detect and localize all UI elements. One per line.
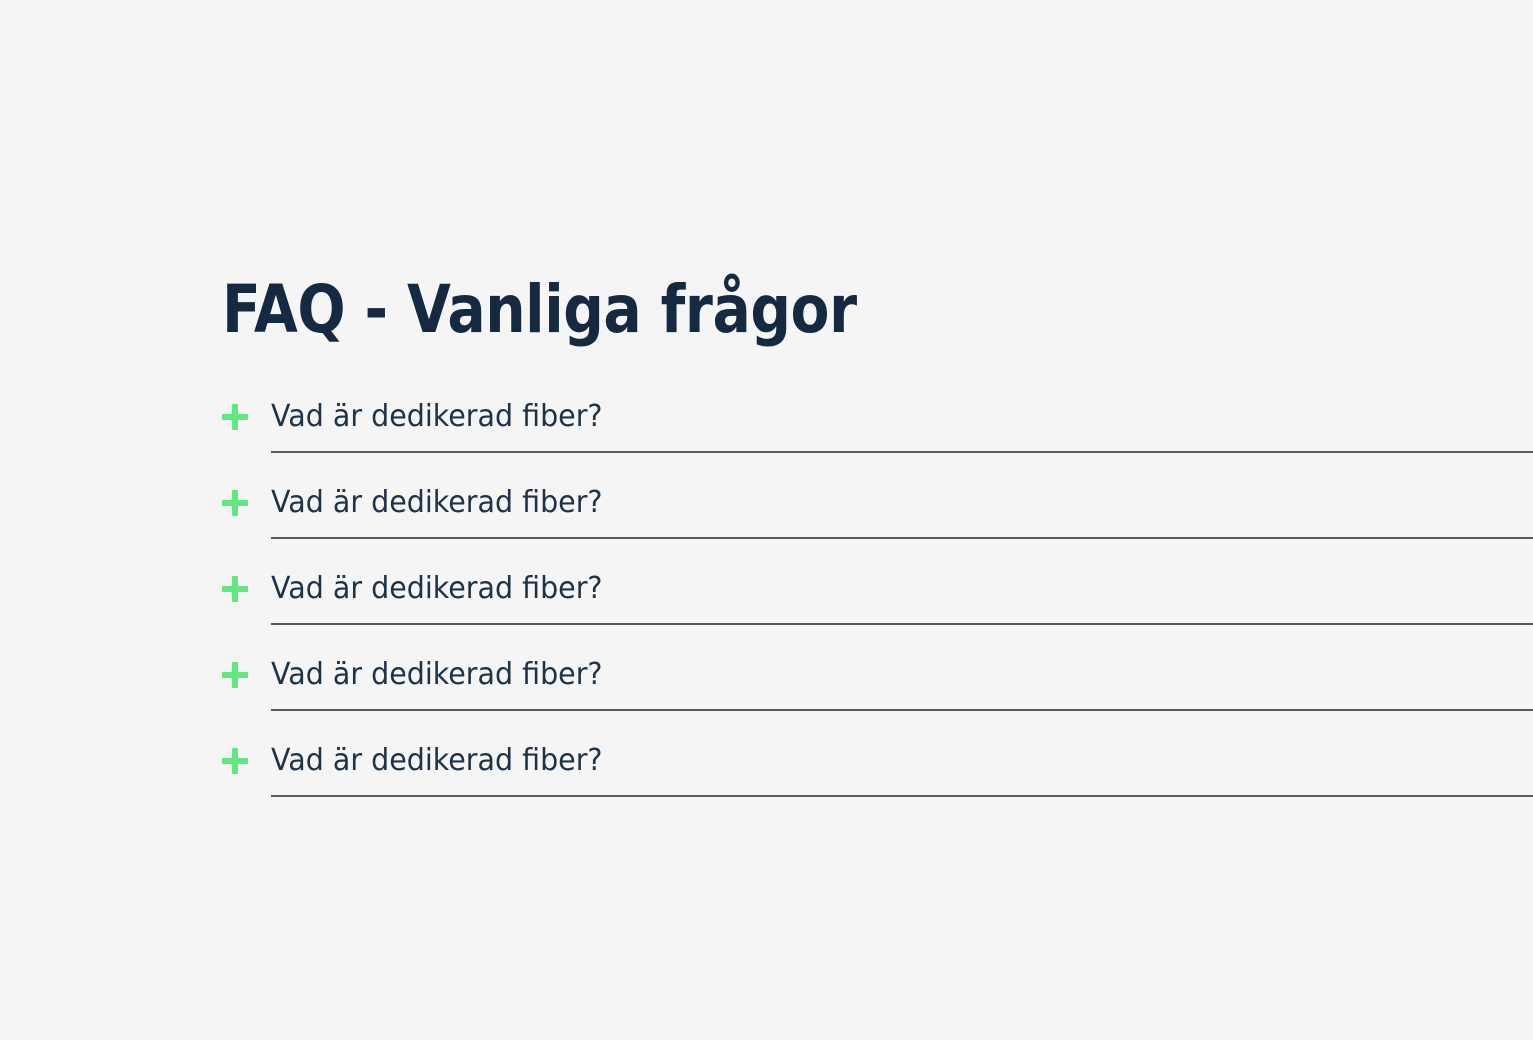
faq-question-label: Vad är dedikerad fiber?: [271, 740, 1470, 782]
faq-accordion-item: Vad är dedikerad fiber?: [0, 654, 1533, 740]
faq-accordion-toggle[interactable]: Vad är dedikerad fiber?: [222, 482, 1533, 538]
plus-icon[interactable]: [222, 748, 248, 774]
faq-accordion-toggle[interactable]: Vad är dedikerad fiber?: [222, 654, 1533, 710]
plus-icon[interactable]: [222, 576, 248, 602]
faq-item-divider: [271, 537, 1533, 539]
faq-accordion-toggle[interactable]: Vad är dedikerad fiber?: [222, 568, 1533, 624]
faq-question-wrap: Vad är dedikerad fiber?: [271, 740, 1533, 782]
plus-icon[interactable]: [222, 404, 248, 430]
faq-question-wrap: Vad är dedikerad fiber?: [271, 568, 1533, 610]
faq-accordion-item: Vad är dedikerad fiber?: [0, 568, 1533, 654]
faq-question-wrap: Vad är dedikerad fiber?: [271, 396, 1533, 438]
plus-icon[interactable]: [222, 490, 248, 516]
faq-question-label: Vad är dedikerad fiber?: [271, 482, 1470, 524]
faq-question-wrap: Vad är dedikerad fiber?: [271, 482, 1533, 524]
faq-accordion-toggle[interactable]: Vad är dedikerad fiber?: [222, 740, 1533, 796]
faq-question-label: Vad är dedikerad fiber?: [271, 654, 1470, 696]
faq-accordion-item: Vad är dedikerad fiber?: [0, 740, 1533, 826]
faq-section: FAQ - Vanliga frågor Vad är dedikerad fi…: [0, 0, 1533, 1040]
plus-icon[interactable]: [222, 662, 248, 688]
faq-accordion-list: Vad är dedikerad fiber? Vad är dedikerad…: [0, 396, 1533, 826]
page-title: FAQ - Vanliga frågor: [222, 275, 857, 344]
faq-item-divider: [271, 451, 1533, 453]
faq-accordion-item: Vad är dedikerad fiber?: [0, 482, 1533, 568]
faq-accordion-item: Vad är dedikerad fiber?: [0, 396, 1533, 482]
faq-item-divider: [271, 709, 1533, 711]
faq-question-label: Vad är dedikerad fiber?: [271, 568, 1470, 610]
faq-question-wrap: Vad är dedikerad fiber?: [271, 654, 1533, 696]
faq-question-label: Vad är dedikerad fiber?: [271, 396, 1470, 438]
faq-item-divider: [271, 795, 1533, 797]
faq-accordion-toggle[interactable]: Vad är dedikerad fiber?: [222, 396, 1533, 452]
faq-item-divider: [271, 623, 1533, 625]
